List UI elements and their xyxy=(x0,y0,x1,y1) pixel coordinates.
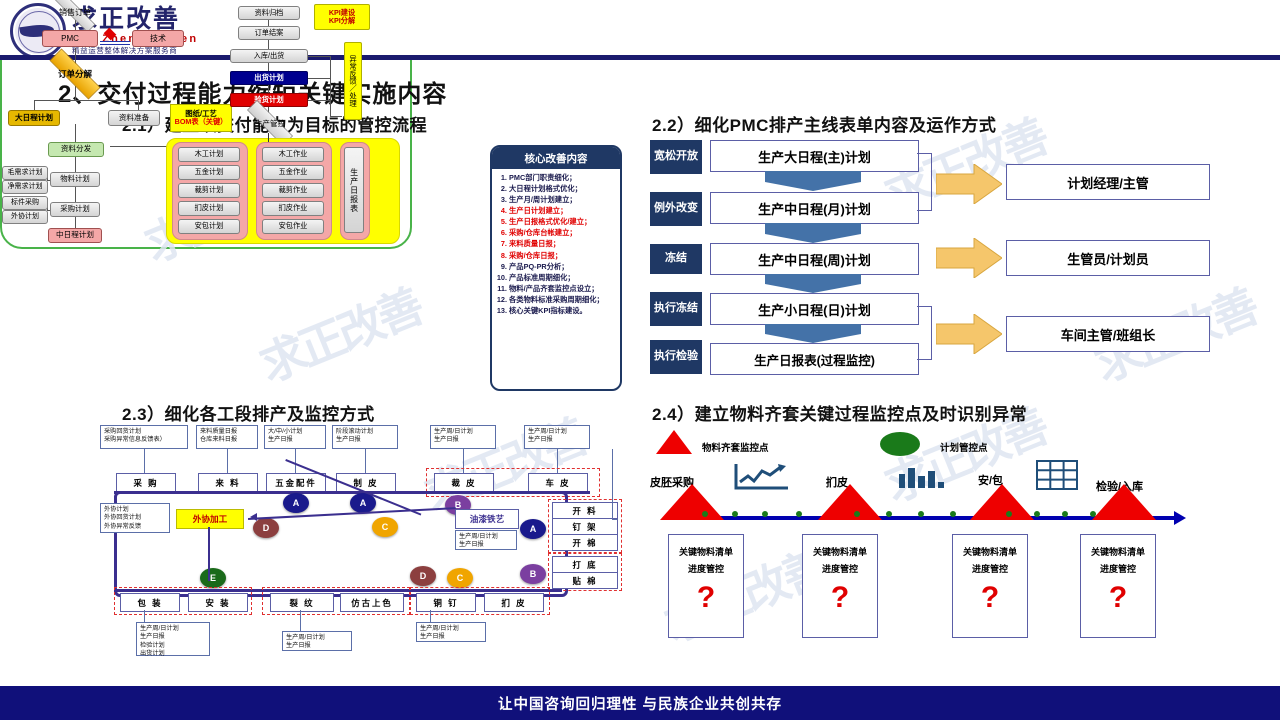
core-item-4: 生产日计划建立； xyxy=(509,205,618,216)
material-card-4: 关键物料清单 进度管控 ? xyxy=(1080,534,1156,638)
node-ship-plan: 出货计划 xyxy=(230,71,308,85)
link-pmc-tech xyxy=(100,41,130,42)
node-outsource-plan: 外协计划 xyxy=(2,210,48,224)
plan-item-5: 安包计划 xyxy=(178,219,240,234)
proc-incoming: 来 料 xyxy=(198,473,258,492)
node-tech: 技术 xyxy=(132,30,184,47)
dashed-group-nail xyxy=(410,587,550,615)
node-net-req: 净需求计划 xyxy=(2,180,48,194)
line-chart-icon xyxy=(734,462,790,490)
note-crack: 生产周/日计划 生产日报 xyxy=(282,631,352,651)
dashed-group-pack xyxy=(114,587,252,615)
plan-dot-12 xyxy=(1090,511,1096,517)
note-cut: 生产周/日计划 生产日报 xyxy=(430,425,496,449)
stage-open: 宽松开放 xyxy=(650,140,702,174)
footer-text: 让中国咨询回归理性 与民族企业共创共存 xyxy=(498,693,782,714)
note-outsource: 外协计划 外协回货计划 外协异常反馈 xyxy=(100,503,170,533)
node-daily-report: 生产日报表 xyxy=(344,147,364,233)
role-box-planner: 生管员/计划员 xyxy=(1006,240,1210,276)
header-band: 求正改善 Qiu Zheng kaizen 精益运营整体解决方案服务商 xyxy=(0,0,1280,57)
stage-exec-frozen: 执行冻结 xyxy=(650,292,702,326)
yellow-arrow-1 xyxy=(936,164,1002,204)
section-title-23: 2.3）细化各工段排产及监控方式 xyxy=(122,400,375,425)
plan-item-4: 扪皮计划 xyxy=(178,201,240,216)
flow-arrow-down-4 xyxy=(765,324,861,343)
core-item-13: 核心关键KPI指标建设。 xyxy=(509,305,618,316)
dashed-group-a xyxy=(548,499,622,553)
plan-item-3: 裁剪计划 xyxy=(178,183,240,198)
node-std-purchase: 标件采购 xyxy=(2,196,48,210)
core-item-2: 大日程计划格式优化； xyxy=(509,183,618,194)
node-mat-plan: 物料计划 xyxy=(50,172,100,187)
work-item-5: 安包作业 xyxy=(262,219,324,234)
core-item-1: PMC部门职责细化； xyxy=(509,172,618,183)
node-mid-plan: 中日程计划 xyxy=(48,228,102,243)
flow-arrow-down-1 xyxy=(765,171,861,191)
link-outsource-install xyxy=(208,527,210,581)
core-item-5: 生产日报格式优化/建立； xyxy=(509,216,618,227)
marker-d2: D xyxy=(410,566,436,586)
pmc-schedule-diagram: 宽松开放 例外改变 冻结 执行冻结 执行检验 生产大日程(主)计划 生产中日程(… xyxy=(650,136,1210,386)
marker-c1: C xyxy=(372,517,398,537)
marker-d1: D xyxy=(253,518,279,538)
plan-item-2: 五金计划 xyxy=(178,165,240,180)
section-title-24: 2.4）建立物料齐套关键过程监控点及时识别异常 xyxy=(652,400,1027,425)
node-pmc: PMC xyxy=(42,30,98,47)
role-box-planning-manager: 计划经理/主管 xyxy=(1006,164,1210,200)
plan-dot-10 xyxy=(1034,511,1040,517)
plan-box-daily-report: 生产日报表(过程监控) xyxy=(710,343,919,375)
core-item-9: 产品PQ-PR分析； xyxy=(509,261,618,272)
marker-b2: B xyxy=(520,564,546,584)
core-item-6: 采购/仓库台帐建立； xyxy=(509,227,618,238)
node-gross-req: 毛需求计划 xyxy=(2,166,48,180)
core-panel-header: 核心改善内容 xyxy=(492,147,620,169)
core-item-8: 采购/仓库日报； xyxy=(509,250,618,261)
plan-box-week: 生产中日程(周)计划 xyxy=(710,243,919,275)
core-item-12: 各类物料标准采购周期细化； xyxy=(509,294,618,305)
stage-exception: 例外改变 xyxy=(650,192,702,226)
marker-e: E xyxy=(200,568,226,588)
green-ellipse-icon xyxy=(880,432,920,456)
material-card-1: 关键物料清单 进度管控 ? xyxy=(668,534,744,638)
node-abnormal-feedback: 异常反馈／处理 xyxy=(344,42,362,120)
node-drawing-bom: 图纸/工艺 BOM表（关键） xyxy=(170,104,232,132)
flow-arrow-down-3 xyxy=(765,274,861,293)
work-item-1: 木工作业 xyxy=(262,147,324,162)
note-nail: 生产周/日计划 生产日报 xyxy=(416,622,486,642)
plan-dot-6 xyxy=(886,511,892,517)
work-item-3: 裁剪作业 xyxy=(262,183,324,198)
node-kpi: KPI建设 KPI分解 xyxy=(314,4,370,30)
plan-dot-5 xyxy=(854,511,860,517)
plan-box-day: 生产小日程(日)计划 xyxy=(710,293,919,325)
node-paint-iron: 油漆铁艺 xyxy=(455,509,519,529)
note-packing: 生产周/日计划 生产日报 检验计划 出货计划 xyxy=(136,622,210,656)
watermark: 求正改善 xyxy=(249,271,429,395)
plan-dot-1 xyxy=(702,511,708,517)
dashed-group-crack xyxy=(262,587,410,615)
core-item-3: 生产月/周计划建立； xyxy=(509,194,618,205)
node-doc-prep: 资料准备 xyxy=(108,110,160,126)
bar-chart-icon xyxy=(898,464,944,490)
node-big-plan: 大日程计划 xyxy=(8,110,60,126)
note-leather: 阶段滚动计划 生产日报 xyxy=(332,425,398,449)
core-improvement-panel: 核心改善内容 PMC部门职责细化；大日程计划格式优化；生产月/周计划建立；生产日… xyxy=(490,145,622,391)
node-outsource-processing: 外协加工 xyxy=(176,509,244,529)
core-item-11: 物料/产品齐套监控点设立； xyxy=(509,283,618,294)
proc-purchase: 采 购 xyxy=(116,473,176,492)
flow-arrow-down-2 xyxy=(765,223,861,243)
material-card-2: 关键物料清单 进度管控 ? xyxy=(802,534,878,638)
core-item-7: 来料质量日报； xyxy=(509,238,618,249)
role-box-supervisor: 车间主管/班组长 xyxy=(1006,316,1210,352)
stage-frozen: 冻结 xyxy=(650,244,702,274)
note-paint: 生产周/日计划 生产日报 xyxy=(455,530,517,550)
footer-bar: 让中国咨询回归理性 与民族企业共创共存 xyxy=(0,686,1280,720)
legend-label-plan: 计划管控点 xyxy=(940,440,988,454)
workshop-schedule-diagram: 采购回货计划 采购异常信息反馈表） 来料质量日报 仓库来料日报 大/中/小计划 … xyxy=(100,423,620,653)
work-item-4: 扪皮作业 xyxy=(262,201,324,216)
node-in-out: 入库/出货 xyxy=(230,49,308,63)
proc-hardware: 五金配件 xyxy=(266,473,326,492)
link-pmc-tech-2 xyxy=(100,44,130,45)
milestone-triangle-1 xyxy=(660,484,724,520)
marker-a1: A xyxy=(283,493,309,513)
yellow-arrow-2 xyxy=(936,238,1002,278)
material-monitor-diagram: 物料齐套监控点 计划管控点 皮胚采购 扪皮 安/包 检验/入库 xyxy=(650,424,1210,654)
red-triangle-icon xyxy=(656,430,692,454)
core-item-10: 产品标准周期细化； xyxy=(509,272,618,283)
yellow-arrow-3 xyxy=(936,314,1002,354)
note-incoming: 来料质量日报 仓库来料日报 xyxy=(196,425,258,449)
marker-a2: A xyxy=(350,493,376,513)
legend-label-material: 物料齐套监控点 xyxy=(702,440,769,454)
node-purchase-plan: 采购计划 xyxy=(50,202,100,217)
plan-dot-4 xyxy=(796,511,802,517)
plan-dot-7 xyxy=(918,511,924,517)
work-item-2: 五金作业 xyxy=(262,165,324,180)
milestone-triangle-2 xyxy=(818,484,882,520)
plan-dot-11 xyxy=(1062,511,1068,517)
plan-box-master: 生产大日程(主)计划 xyxy=(710,140,919,172)
dashed-group-b xyxy=(548,553,622,591)
note-hardware: 大/中/小计划 生产日报 xyxy=(264,425,326,449)
plan-dot-9 xyxy=(1006,511,1012,517)
node-prod-control: 生产管控 xyxy=(234,113,306,133)
node-sales-order: 销售订单 xyxy=(42,4,108,20)
node-inspect-plan: 验货计划 xyxy=(230,93,308,107)
node-archive: 资料归档 xyxy=(238,6,300,20)
brace-1 xyxy=(917,153,932,211)
marker-a3: A xyxy=(520,519,546,539)
material-card-3: 关键物料清单 进度管控 ? xyxy=(952,534,1028,638)
slide-root: 求正改善 求正改善 求正改善 求正改善 求正改善 求正改善 求正改善 求正改善 … xyxy=(0,0,1280,720)
marker-c2: C xyxy=(447,568,473,588)
node-doc-dist: 资料分发 xyxy=(48,142,104,157)
plan-box-month: 生产中日程(月)计划 xyxy=(710,192,919,224)
brace-2 xyxy=(917,306,932,360)
milestone-triangle-3 xyxy=(970,484,1034,520)
plan-dot-2 xyxy=(732,511,738,517)
arrow-head-paint xyxy=(250,513,257,521)
section-title-22: 2.2）细化PMC排产主线表单内容及运作方式 xyxy=(652,111,996,136)
stage-exec-check: 执行检验 xyxy=(650,340,702,374)
core-improvement-list: PMC部门职责细化；大日程计划格式优化；生产月/周计划建立；生产日计划建立；生产… xyxy=(492,172,620,316)
node-order-close: 订单结案 xyxy=(238,26,300,40)
node-order-split: 订单分解 xyxy=(36,62,114,86)
note-sew: 生产周/日计划 生产日报 xyxy=(524,425,590,449)
milestone-triangle-4 xyxy=(1092,484,1156,520)
brand-tagline: 精益运营整体解决方案服务商 xyxy=(72,47,198,55)
header-divider xyxy=(0,55,1280,60)
plan-dot-3 xyxy=(762,511,768,517)
plan-dot-8 xyxy=(950,511,956,517)
plan-item-1: 木工计划 xyxy=(178,147,240,162)
timeline-arrow-head xyxy=(1174,511,1186,525)
table-grid-icon xyxy=(1036,460,1078,490)
note-purchase: 采购回货计划 采购异常信息反馈表） xyxy=(100,425,188,449)
